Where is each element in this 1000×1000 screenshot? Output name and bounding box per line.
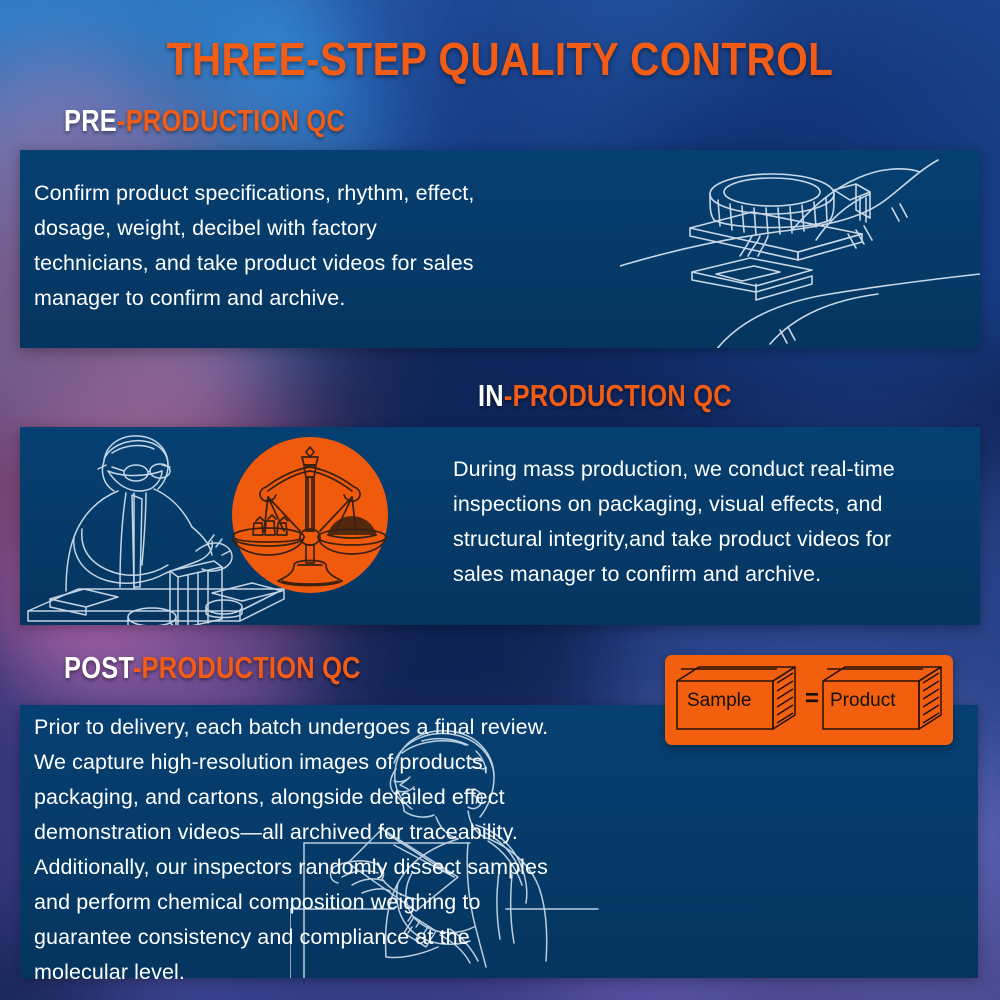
- page-title: THREE-STEP QUALITY CONTROL: [60, 32, 940, 86]
- section-heading-orange-part: -PRODUCTION QC: [117, 103, 345, 138]
- section-heading-orange-part: -PRODUCTION QC: [133, 650, 361, 685]
- hand-holding-measuring-device-icon: [620, 150, 980, 348]
- infographic-page: THREE-STEP QUALITY CONTROL PRE-PRODUCTIO…: [0, 0, 1000, 1000]
- body-text-post-production: Prior to delivery, each batch undergoes …: [34, 710, 659, 990]
- section-heading-white-part: PRE: [64, 103, 117, 138]
- body-text-in-production: During mass production, we conduct real-…: [453, 452, 983, 592]
- section-heading-white-part: IN: [478, 378, 504, 413]
- section-heading-orange-part: -PRODUCTION QC: [504, 378, 732, 413]
- body-text-pre-production: Confirm product specifications, rhythm, …: [34, 176, 594, 316]
- badge-label-sample: Sample: [687, 690, 751, 712]
- balance-scale-badge: [232, 437, 388, 593]
- balance-scale-icon: [232, 437, 388, 593]
- badge-equals-sign: =: [805, 685, 819, 713]
- section-heading-white-part: POST: [64, 650, 133, 685]
- badge-label-product: Product: [830, 690, 895, 712]
- section-heading-pre-production: PRE-PRODUCTION QC: [64, 103, 345, 139]
- section-heading-post-production: POST-PRODUCTION QC: [64, 650, 361, 686]
- sample-equals-product-badge: Sample = Product: [665, 655, 953, 745]
- section-heading-in-production: IN-PRODUCTION QC: [478, 378, 732, 414]
